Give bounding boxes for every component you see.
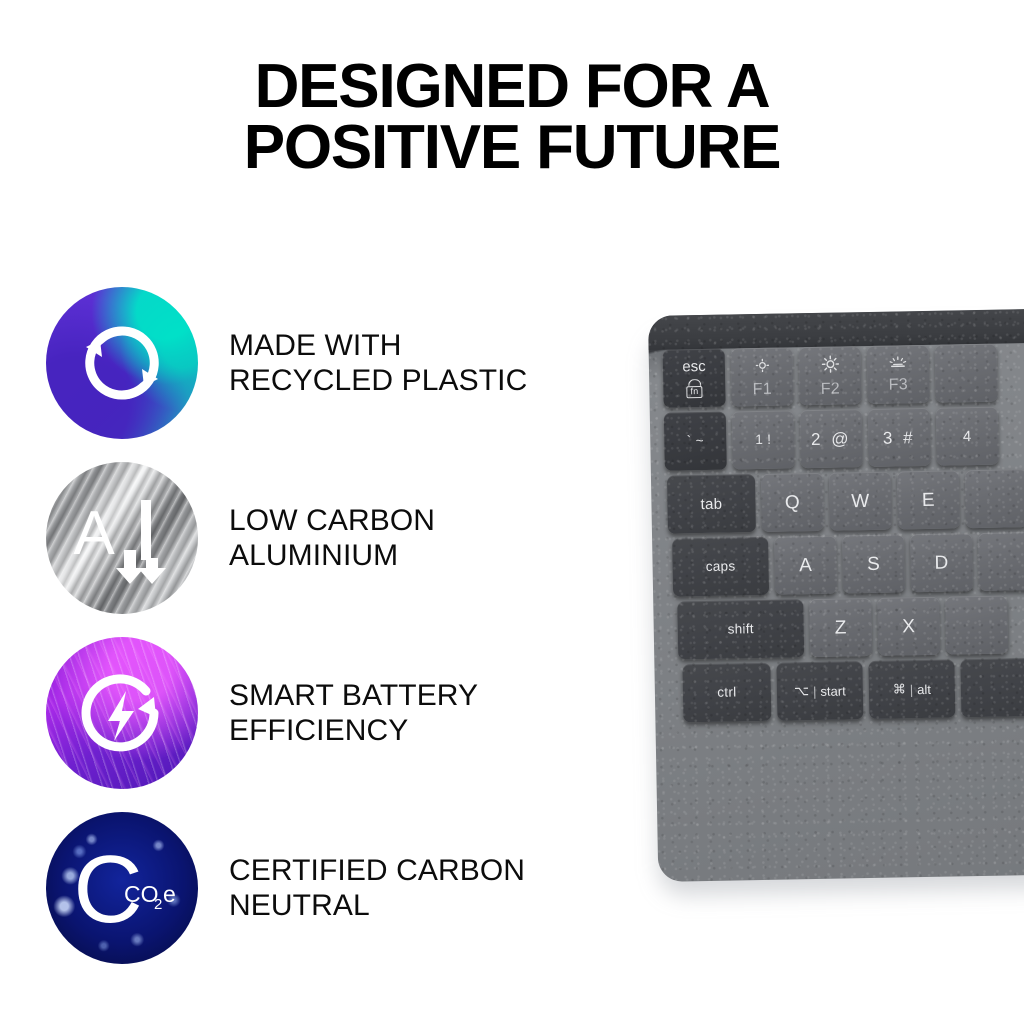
key-label: ` ~ — [687, 434, 704, 448]
key-esc-label: esc — [682, 358, 706, 373]
key-a[interactable]: A — [774, 536, 837, 595]
feature-label-line-2: EFFICIENCY — [229, 713, 478, 748]
feature-item-low-carbon-aluminium: A LOW CARBON ALUMINIUM — [46, 459, 646, 617]
svg-text:2: 2 — [154, 896, 162, 913]
key-shift[interactable]: shift — [677, 599, 804, 659]
brightness-down-icon — [753, 356, 770, 375]
key-esc[interactable]: escfn — [663, 349, 726, 408]
key-f[interactable] — [978, 532, 1024, 591]
key-one[interactable]: 1 ! — [732, 410, 795, 469]
feature-label-line-2: NEUTRAL — [229, 888, 525, 923]
feature-label-smart-battery-efficiency: SMART BATTERY EFFICIENCY — [229, 678, 478, 748]
key-f4[interactable] — [935, 344, 998, 403]
feature-label-line-1: SMART BATTERY — [229, 678, 478, 713]
key-command-alt[interactable]: ⌘|alt — [868, 659, 955, 719]
key-r[interactable] — [965, 469, 1024, 528]
key-d[interactable]: D — [910, 533, 973, 592]
key-label: A — [799, 556, 812, 575]
key-label: 2 @ — [811, 430, 852, 448]
key-label: tab — [700, 496, 722, 511]
feature-item-smart-battery-efficiency: SMART BATTERY EFFICIENCY — [46, 634, 646, 792]
feature-label-line-1: LOW CARBON — [229, 503, 435, 538]
keyboard-row-number-row: ` ~1 !2 @3 #4 — [650, 405, 1024, 471]
key-f3[interactable]: F3 — [867, 345, 930, 404]
key-label: alt — [917, 681, 931, 696]
page-title-line-2: POSITIVE FUTURE — [80, 117, 944, 178]
feature-item-recycled-plastic: MADE WITH RECYCLED PLASTIC — [46, 284, 646, 442]
carbon-neutral-icon: C CO 2 e — [46, 812, 198, 964]
key-ctrl[interactable]: ctrl — [682, 663, 771, 723]
key-label: Z — [835, 618, 847, 637]
key-w[interactable]: W — [829, 472, 892, 531]
keyboard-row-home-row: capsASD — [652, 531, 1024, 597]
key-label: S — [867, 554, 880, 573]
battery-refresh-bolt-icon — [46, 637, 198, 789]
keyboard-row-function-row: escfnF1F2F3 — [649, 342, 1024, 408]
feature-label-low-carbon-aluminium: LOW CARBON ALUMINIUM — [229, 503, 435, 573]
key-spacebar[interactable] — [960, 658, 1024, 718]
key-f2[interactable]: F2 — [799, 346, 862, 405]
key-three[interactable]: 3 # — [868, 408, 931, 467]
key-label: W — [851, 491, 870, 510]
key-x[interactable]: X — [877, 597, 940, 656]
keyboard-row-modifier-row: ctrl⌥|start⌘|alt — [654, 657, 1024, 723]
key-label: 4 — [963, 429, 972, 444]
svg-text:e: e — [163, 881, 176, 907]
key-tab[interactable]: tab — [667, 474, 756, 534]
feature-item-certified-carbon-neutral: C CO 2 e CERTIFIED CARBON NEUTRAL — [46, 809, 646, 967]
key-label: X — [902, 617, 915, 636]
svg-text:A: A — [73, 499, 115, 568]
key-glyph: ⌘ — [893, 681, 906, 697]
feature-label-certified-carbon-neutral: CERTIFIED CARBON NEUTRAL — [229, 853, 525, 923]
page-title: DESIGNED FOR A POSITIVE FUTURE — [0, 56, 1024, 179]
key-label: Q — [785, 493, 800, 512]
feature-label-recycled-plastic: MADE WITH RECYCLED PLASTIC — [229, 328, 527, 398]
key-label: F3 — [889, 377, 909, 393]
key-label: F2 — [821, 381, 841, 397]
key-grave-tilde[interactable]: ` ~ — [664, 412, 727, 471]
key-option-start[interactable]: ⌥|start — [776, 661, 863, 721]
key-split-label: ⌘|alt — [893, 681, 931, 698]
aluminium-down-arrows-icon: A — [46, 462, 198, 614]
key-q[interactable]: Q — [761, 473, 824, 532]
keyboard-key-rows: escfnF1F2F3` ~1 !2 @3 #4tabQWEcapsASDshi… — [649, 342, 1024, 728]
key-glyph: ⌥ — [794, 683, 809, 699]
recycle-icon — [46, 287, 198, 439]
key-s[interactable]: S — [842, 534, 905, 593]
key-divider: | — [910, 682, 914, 697]
feature-label-line-2: ALUMINIUM — [229, 538, 435, 573]
key-label: D — [934, 553, 948, 572]
keyboard-product-image: escfnF1F2F3` ~1 !2 @3 #4tabQWEcapsASDshi… — [648, 316, 1024, 896]
key-split-label: ⌥|start — [794, 682, 846, 699]
keyboard-body: escfnF1F2F3` ~1 !2 @3 #4tabQWEcapsASDshi… — [648, 308, 1024, 882]
key-c[interactable] — [945, 595, 1008, 654]
feature-label-line-1: MADE WITH — [229, 328, 527, 363]
key-z[interactable]: Z — [809, 598, 872, 657]
key-two[interactable]: 2 @ — [800, 409, 863, 468]
key-f1[interactable]: F1 — [731, 347, 794, 406]
feature-list: MADE WITH RECYCLED PLASTIC A LOW CARBON … — [46, 284, 646, 967]
fn-lock-icon: fn — [686, 379, 702, 398]
key-label: 1 ! — [755, 433, 771, 447]
feature-label-line-2: RECYCLED PLASTIC — [229, 363, 527, 398]
key-label: E — [922, 490, 935, 509]
feature-label-line-1: CERTIFIED CARBON — [229, 853, 525, 888]
key-label: ctrl — [717, 686, 736, 700]
key-four[interactable]: 4 — [936, 407, 999, 466]
key-label: caps — [706, 560, 736, 574]
key-label: shift — [727, 622, 754, 636]
key-caps[interactable]: caps — [672, 537, 769, 597]
key-label: start — [820, 683, 846, 698]
key-e[interactable]: E — [897, 470, 960, 529]
keyboard-row-shift-row: shiftZX — [653, 594, 1024, 660]
backlight-icon — [888, 355, 908, 371]
key-label: F1 — [753, 381, 773, 397]
page-title-line-1: DESIGNED FOR A — [255, 52, 770, 121]
brightness-up-icon — [820, 354, 839, 375]
key-divider: | — [813, 683, 817, 698]
key-label: 3 # — [883, 429, 916, 447]
keyboard-row-qwerty-row: tabQWE — [651, 468, 1024, 534]
